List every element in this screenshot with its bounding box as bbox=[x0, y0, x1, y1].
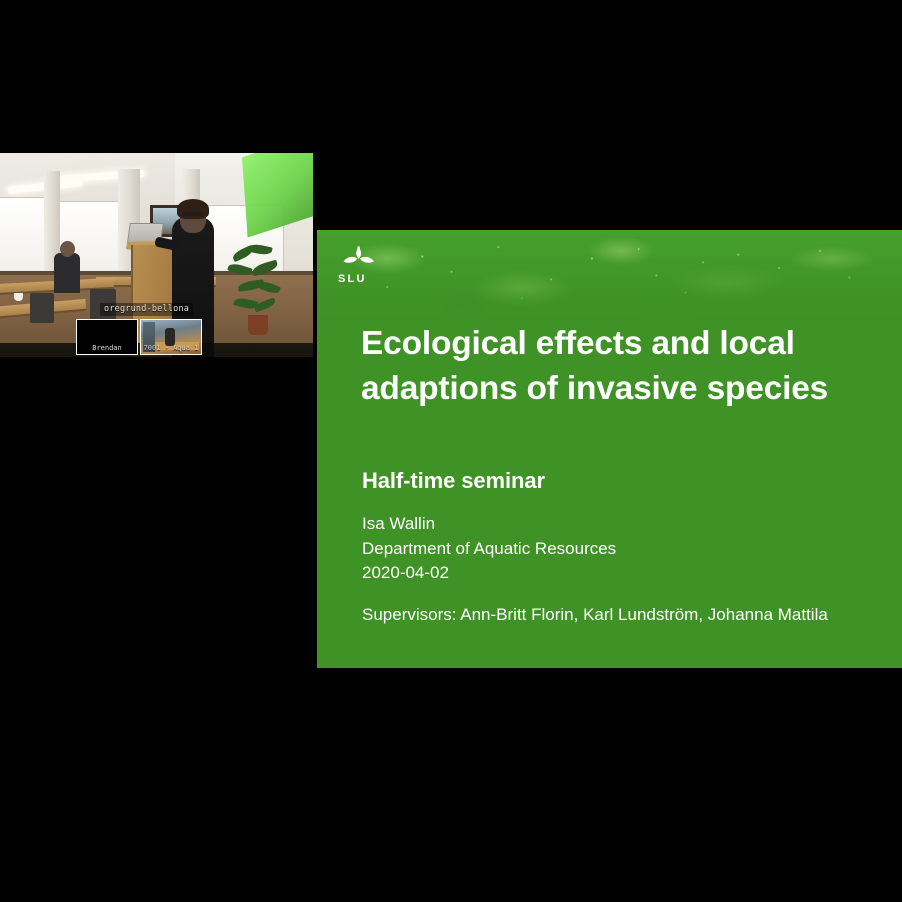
plant-leaf bbox=[251, 260, 279, 277]
coffee-cup bbox=[14, 293, 23, 301]
slu-logo: SLU bbox=[337, 246, 381, 285]
slide-department: Department of Aquatic Resources bbox=[362, 537, 616, 562]
pip-thumbnail-brendan[interactable]: Brendan bbox=[76, 319, 138, 355]
plant-pot bbox=[248, 315, 268, 335]
presenter-glasses bbox=[182, 212, 203, 216]
pip-thumbnail-aqua1[interactable]: 7001 - Aqua 1 bbox=[140, 319, 202, 355]
participant-name-label: oregrund-bellona bbox=[100, 303, 193, 316]
slide-title: Ecological effects and local adaptions o… bbox=[361, 322, 902, 411]
plant-leaf bbox=[227, 262, 253, 278]
slide-meta-block: Isa Wallin Department of Aquatic Resourc… bbox=[362, 512, 616, 586]
potted-plant bbox=[228, 245, 288, 325]
slide-presenter-name: Isa Wallin bbox=[362, 512, 616, 537]
slide-subtitle: Half-time seminar bbox=[362, 468, 545, 494]
slide-header-texture-speckle bbox=[317, 230, 902, 325]
plant-leaf bbox=[253, 297, 276, 312]
seated-attendee-head bbox=[60, 241, 75, 257]
pip-label: Brendan bbox=[77, 344, 137, 352]
pip-label: 7001 - Aqua 1 bbox=[141, 344, 201, 352]
slu-wordmark: SLU bbox=[338, 273, 381, 285]
plant-leaf bbox=[247, 243, 272, 257]
slu-leaf-icon bbox=[337, 246, 381, 272]
pip-thumbnail-strip[interactable]: Brendan 7001 - Aqua 1 bbox=[76, 319, 202, 355]
shared-presentation-slide[interactable]: SLU Ecological effects and local adaptio… bbox=[317, 230, 902, 668]
plant-leaf bbox=[257, 279, 281, 296]
slide-supervisors: Supervisors: Ann-Britt Florin, Karl Lund… bbox=[362, 605, 828, 625]
slide-date: 2020-04-02 bbox=[362, 561, 616, 586]
seated-attendee bbox=[54, 253, 80, 293]
presenter-hair bbox=[177, 199, 209, 219]
screen-recording-frame: oregrund-bellona Brendan 7001 - Aqua 1 bbox=[0, 0, 902, 902]
chair bbox=[30, 293, 54, 323]
